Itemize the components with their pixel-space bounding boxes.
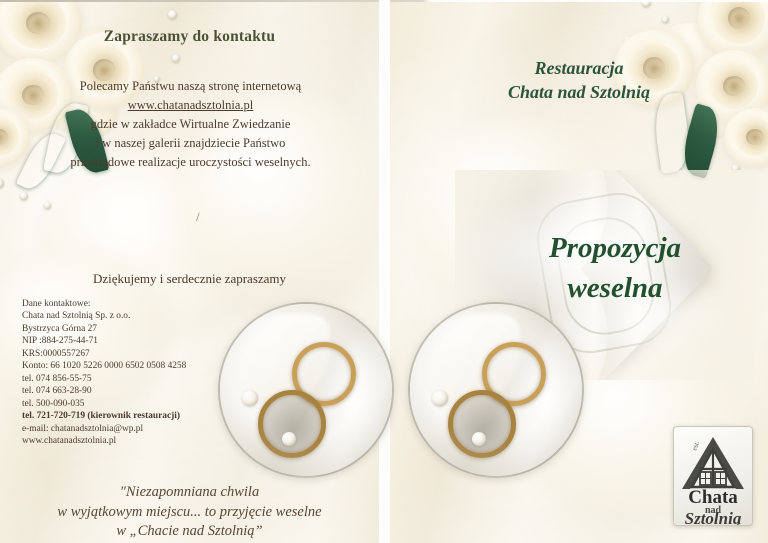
pearl-icon (0, 178, 4, 188)
contact-line: Bystrzyca Górna 27 (22, 323, 252, 335)
pearl-icon (20, 192, 28, 200)
contact-details: Dane kontaktowe: Chata nad Sztolnią Sp. … (22, 298, 252, 447)
chata-nad-sztolnia-logo: est. Chata nad Sztolnią (673, 426, 753, 526)
circle-vignette (410, 304, 582, 476)
restaurant-name: Restauracja Chata nad Sztolnią (390, 56, 768, 104)
intro-line-4: i w naszej galerii znajdziecie Państwo (18, 134, 363, 153)
contact-line: Chata nad Sztolnią Sp. z o.o. (22, 310, 252, 322)
pearl-icon (168, 10, 177, 19)
pearl-icon (642, 2, 651, 7)
offer-title-line-1: Propozycja (470, 228, 760, 268)
restaurant-line-2: Chata nad Sztolnią (390, 80, 768, 104)
quote-line-1: "Niezapomniana chwila (0, 483, 379, 503)
pearl-icon (662, 16, 669, 23)
offer-title: Propozycja weselna (470, 228, 760, 308)
contact-website[interactable]: www.chatanadsztolnia.pl (22, 435, 252, 447)
contact-manager-phone[interactable]: tel. 721-720-719 (kierownik restauracji) (22, 410, 252, 422)
website-link-line[interactable]: www.chatanadsztolnia.pl (18, 96, 363, 115)
circle-vignette (220, 304, 392, 476)
contact-email[interactable]: e-mail: chatanadsztolnia@wp.pl (22, 423, 252, 435)
thanks-line: Dziękujemy i serdecznie zapraszamy (0, 271, 379, 287)
intro-line-5: przykładowe realizacje uroczystości wese… (18, 153, 363, 172)
contact-line: NIP :884-275-44-71 (22, 335, 252, 347)
contact-phone[interactable]: tel. 500-090-035 (22, 398, 252, 410)
contact-line: KRS:0000557267 (22, 348, 252, 360)
brochure-page: Zapraszamy do kontaktu Polecamy Państwu … (0, 0, 768, 543)
closing-quote: "Niezapomniana chwila w wyjątkowym miejs… (0, 483, 379, 542)
logo-word-sztolnia: Sztolnią (685, 509, 742, 525)
logo-artwork: est. Chata nad Sztolnią (674, 427, 752, 525)
offer-title-line-2: weselna (470, 268, 760, 308)
separator-mark: / (196, 209, 200, 225)
intro-line-1: Polecamy Państwu naszą stronę internetow… (18, 77, 363, 96)
contact-line: Konto: 66 1020 5226 0000 6502 0508 4258 (22, 360, 252, 372)
page-title: Zapraszamy do kontaktu (0, 28, 379, 46)
website-link[interactable]: www.chatanadsztolnia.pl (128, 98, 254, 112)
contact-title: Dane kontaktowe: (22, 298, 252, 310)
pearl-icon (44, 202, 51, 209)
intro-paragraph: Polecamy Państwu naszą stronę internetow… (18, 77, 363, 172)
intro-line-3: gdzie w zakładce Wirtualne Zwiedzanie (18, 115, 363, 134)
quote-line-3: w „Chacie nad Sztolnią” (0, 522, 379, 542)
restaurant-line-1: Restauracja (390, 56, 768, 80)
ring-photo-left (218, 302, 394, 478)
pearl-icon (172, 54, 180, 62)
logo-microtext: est. (690, 440, 701, 452)
quote-line-2: w wyjątkowym miejscu... to przyjęcie wes… (0, 503, 379, 523)
ring-photo-right (408, 302, 584, 478)
